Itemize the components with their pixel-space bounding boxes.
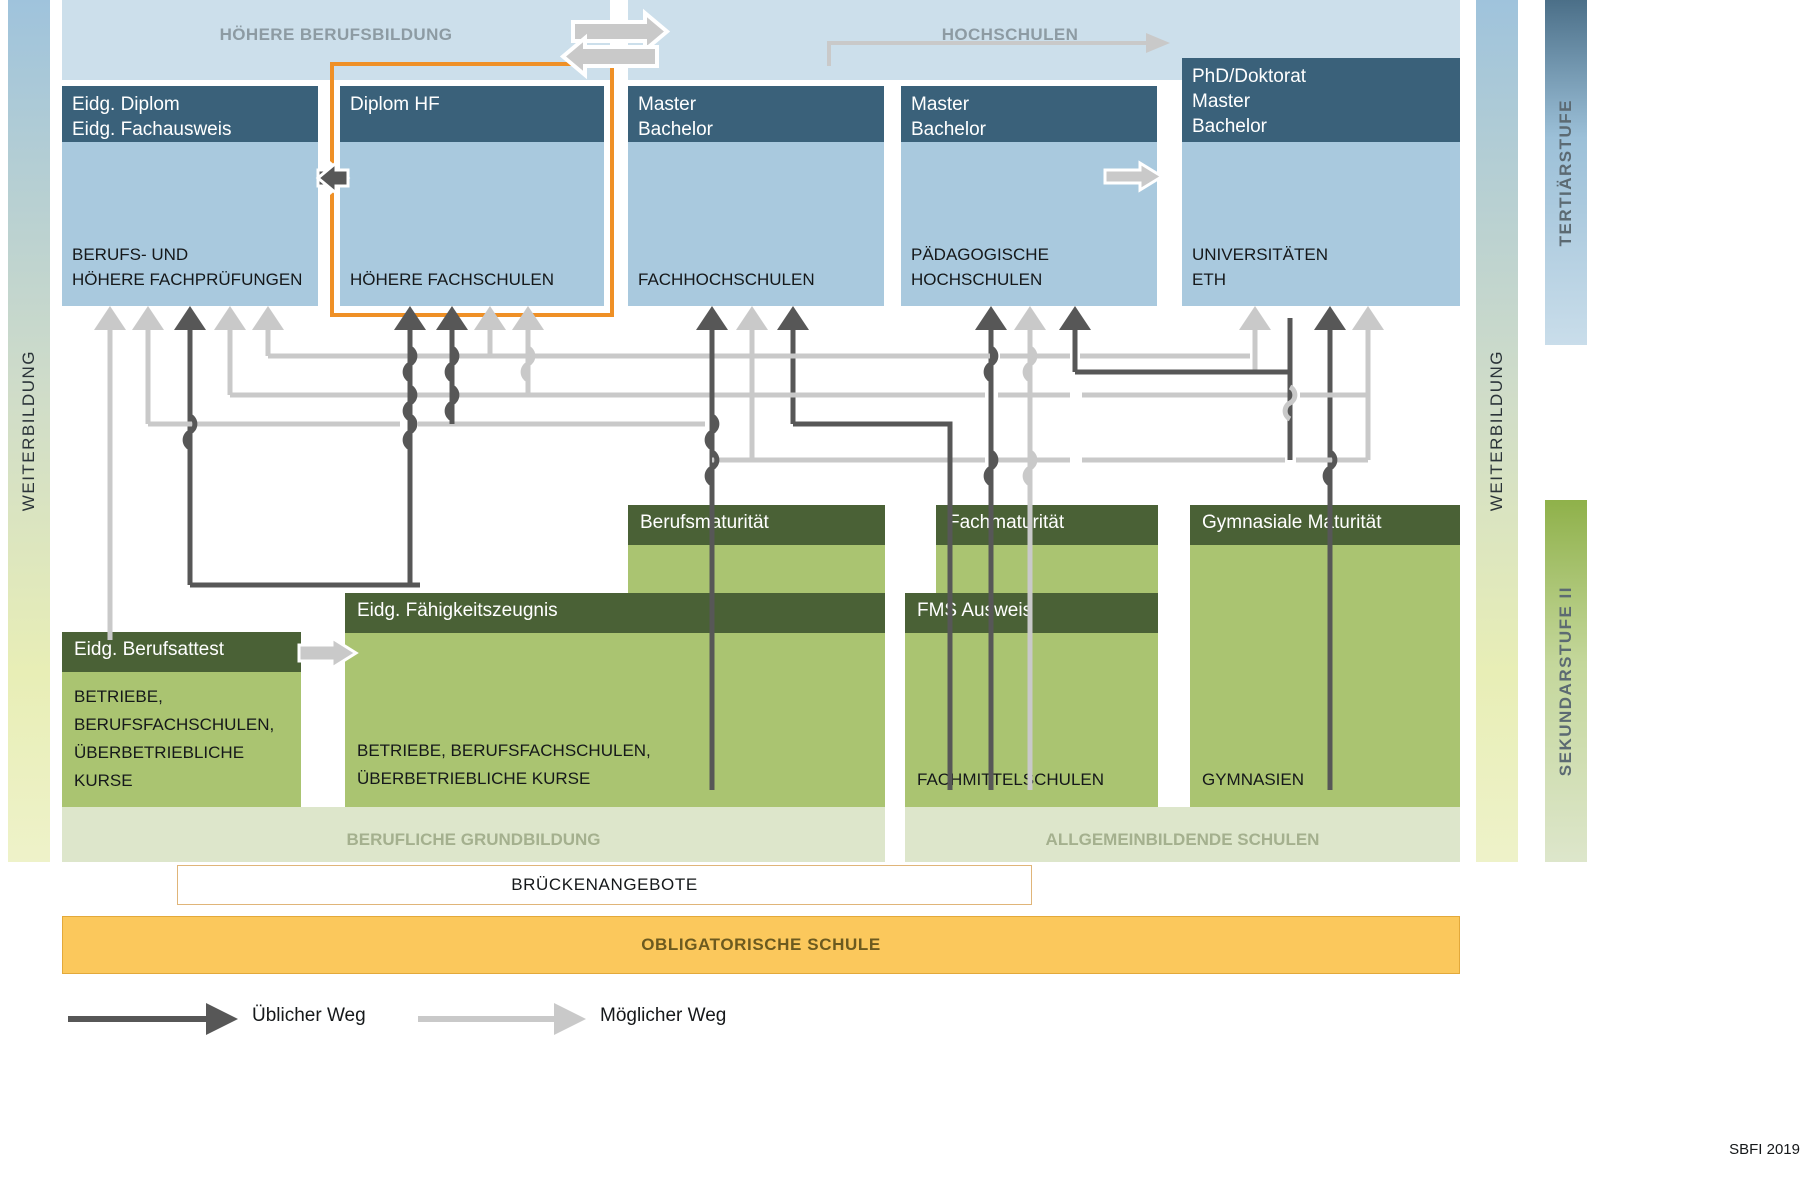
arrow-right-icon	[206, 1003, 238, 1035]
legend-arrows	[0, 0, 1800, 1188]
education-system-diagram: WEITERBILDUNG WEITERBILDUNG TERTIÄRSTUFE…	[0, 0, 1800, 1188]
arrow-right-icon	[554, 1003, 586, 1035]
